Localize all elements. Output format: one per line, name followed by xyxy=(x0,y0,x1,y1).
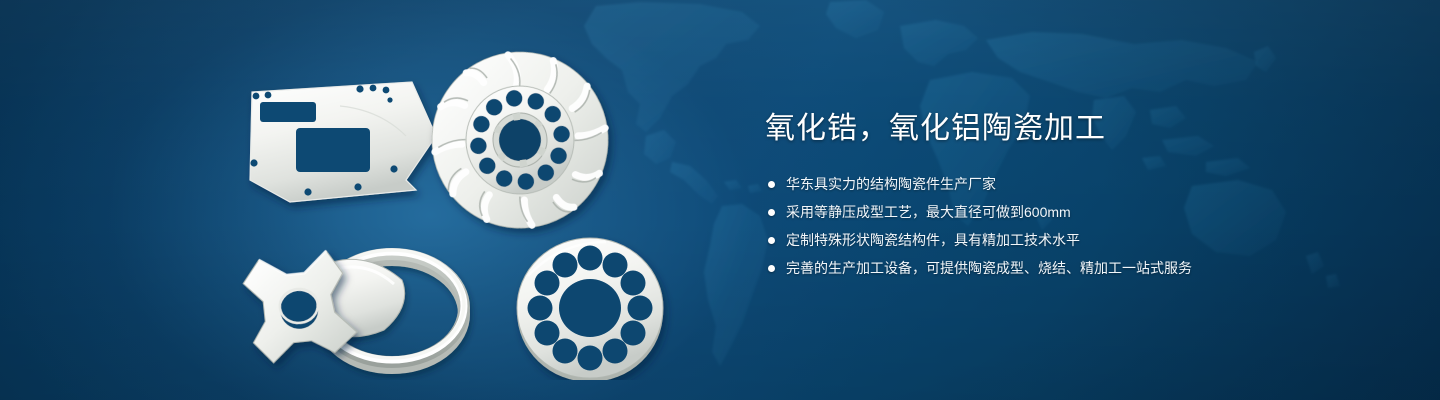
feature-text: 完善的生产加工设备，可提供陶瓷成型、烧结、精加工一站式服务 xyxy=(786,260,1192,276)
list-item: 华东具实力的结构陶瓷件生产厂家 xyxy=(765,174,1385,195)
page-title: 氧化锆，氧化铝陶瓷加工 xyxy=(765,108,1385,150)
product-ceramic-hole-ring xyxy=(517,238,663,380)
product-photo-cluster xyxy=(230,40,700,380)
feature-text: 华东具实力的结构陶瓷件生产厂家 xyxy=(786,176,996,192)
hero-banner: 氧化锆，氧化铝陶瓷加工 华东具实力的结构陶瓷件生产厂家 采用等静压成型工艺，最大… xyxy=(0,0,1440,400)
feature-list: 华东具实力的结构陶瓷件生产厂家 采用等静压成型工艺，最大直径可做到600mm 定… xyxy=(765,174,1385,279)
product-ceramic-impeller xyxy=(421,41,620,240)
feature-text: 定制特殊形状陶瓷结构件，具有精加工技术水平 xyxy=(786,232,1080,248)
list-item: 定制特殊形状陶瓷结构件，具有精加工技术水平 xyxy=(765,230,1385,251)
bullet-dot-icon xyxy=(768,237,775,244)
list-item: 完善的生产加工设备，可提供陶瓷成型、烧结、精加工一站式服务 xyxy=(765,258,1385,279)
bullet-dot-icon xyxy=(768,265,775,272)
bullet-dot-icon xyxy=(768,209,775,216)
bullet-dot-icon xyxy=(768,181,775,188)
product-ceramic-mounting-plate xyxy=(250,82,436,202)
feature-text: 采用等静压成型工艺，最大直径可做到600mm xyxy=(786,204,1071,220)
banner-copy: 氧化锆，氧化铝陶瓷加工 华东具实力的结构陶瓷件生产厂家 采用等静压成型工艺，最大… xyxy=(765,108,1385,286)
list-item: 采用等静压成型工艺，最大直径可做到600mm xyxy=(765,202,1385,223)
